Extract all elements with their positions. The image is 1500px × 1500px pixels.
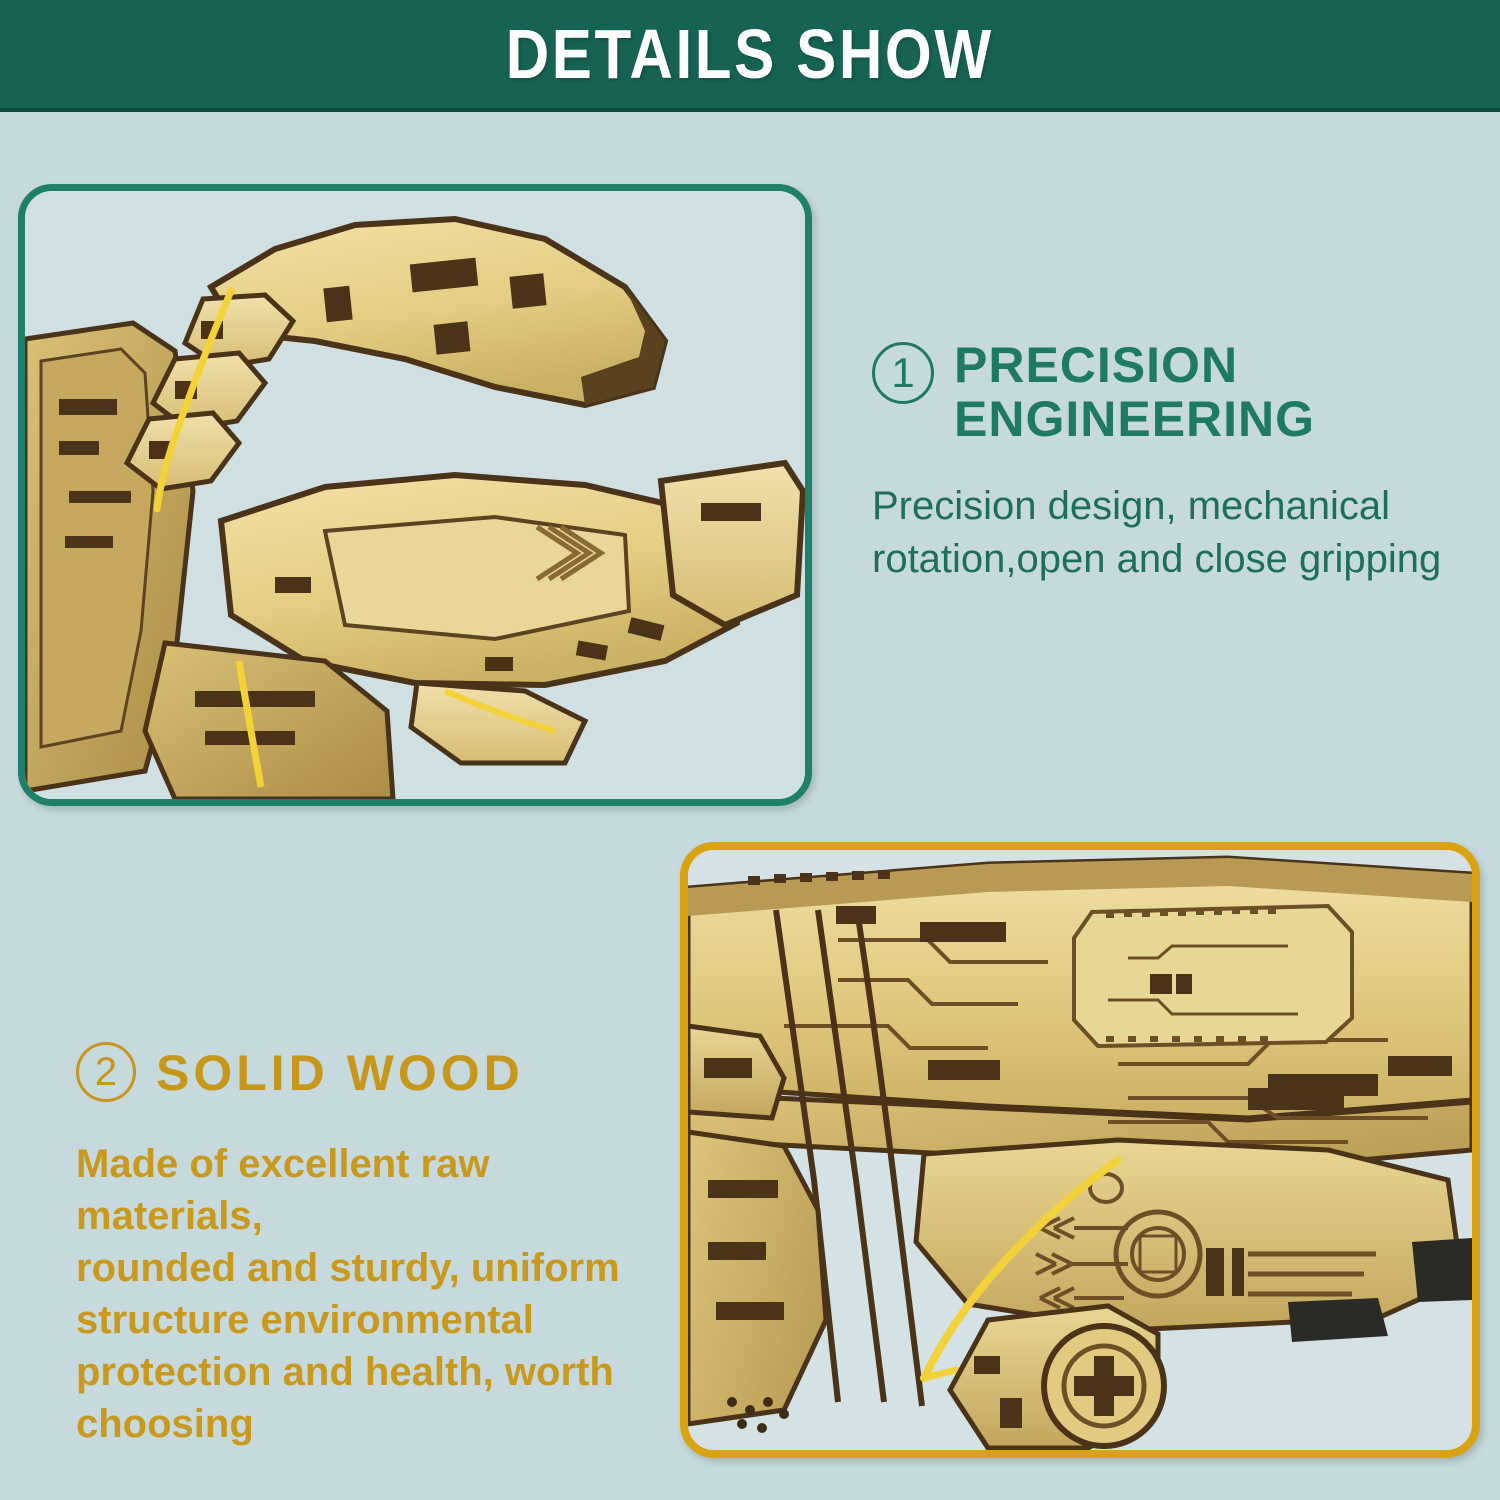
- blaster-lower-body: [916, 1140, 1462, 1330]
- wooden-claw-gripper-photo: [25, 191, 805, 799]
- blaster-grip-wheel: [950, 1306, 1164, 1448]
- feature-1-number-badge: 1: [872, 342, 934, 404]
- blaster-illustration: [688, 850, 1472, 1450]
- details-show-header: DETAILS SHOW: [0, 0, 1500, 112]
- blaster-receiver: [688, 858, 1472, 1118]
- claw-side-plate: [661, 463, 803, 625]
- feature-1-heading: PRECISION ENGINEERING: [954, 338, 1315, 446]
- claw-illustration: [25, 191, 805, 799]
- feature-2-header: 2 SOLID WOOD: [76, 1042, 656, 1102]
- feature-1-header: 1 PRECISION ENGINEERING: [872, 338, 1482, 446]
- feature-solid-wood: 2 SOLID WOOD Made of excellent raw mater…: [76, 1042, 656, 1450]
- feature-precision-engineering: 1 PRECISION ENGINEERING Precision design…: [872, 338, 1482, 586]
- feature-2-number-badge: 2: [76, 1042, 136, 1102]
- photo-frame-blaster: [680, 842, 1480, 1458]
- photo-frame-claw: [18, 184, 812, 806]
- wooden-blaster-detail-photo: [688, 850, 1472, 1450]
- page-title: DETAILS SHOW: [506, 19, 994, 89]
- feature-2-body: Made of excellent raw materials, rounded…: [76, 1138, 656, 1450]
- feature-1-body: Precision design, mechanical rotation,op…: [872, 480, 1482, 586]
- feature-2-heading: SOLID WOOD: [156, 1046, 524, 1100]
